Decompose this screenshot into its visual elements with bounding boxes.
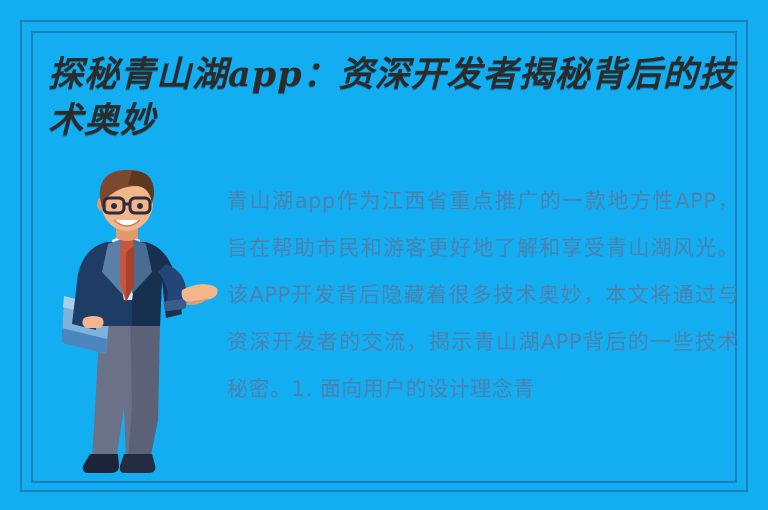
presenting-arm-shape — [158, 264, 218, 311]
poster-canvas: 探秘青山湖app：资深开发者揭秘背后的技术奥妙 青山湖app作为江西省重点推广的… — [0, 0, 768, 510]
businessman-illustration — [62, 168, 222, 480]
article-body-text: 青山湖app作为江西省重点推广的一款地方性APP，旨在帮助市民和游客更好地了解和… — [227, 178, 739, 468]
left-hand-shape — [82, 316, 103, 328]
shoes-shape — [83, 454, 156, 473]
article-title: 探秘青山湖app：资深开发者揭秘背后的技术奥妙 — [48, 52, 738, 144]
